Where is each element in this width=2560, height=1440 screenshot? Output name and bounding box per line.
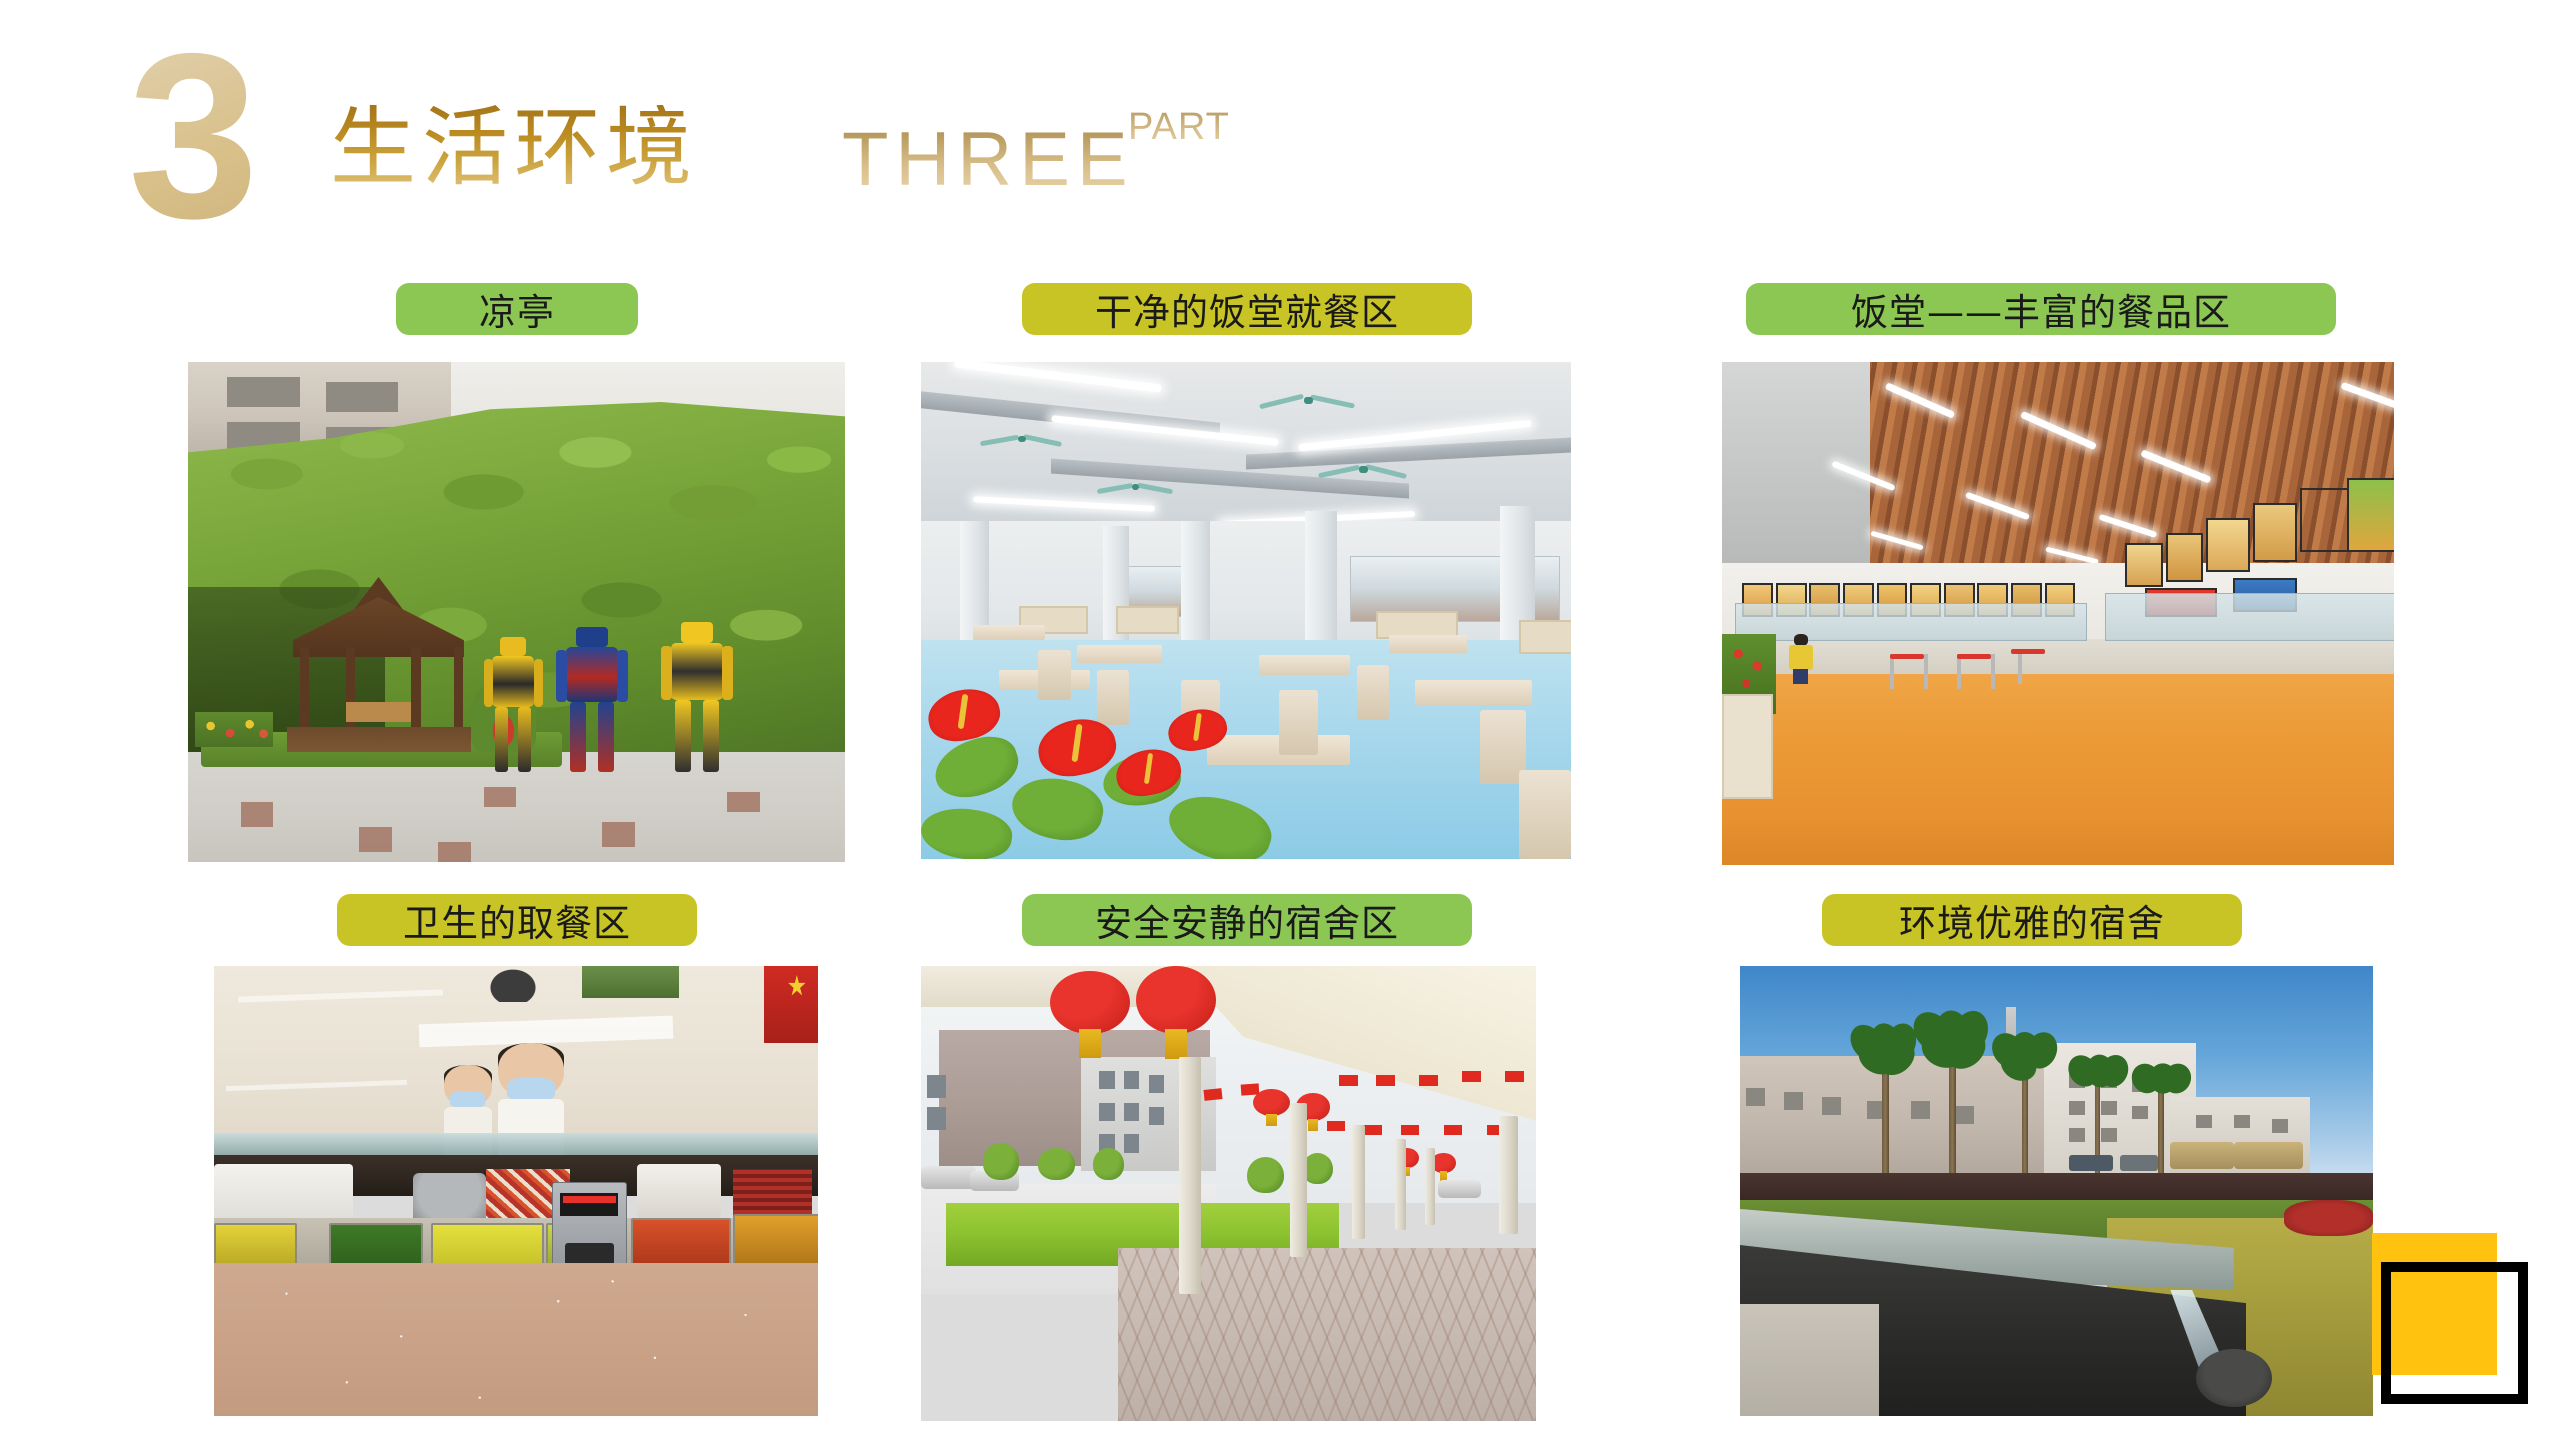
photo-gazebo[interactable] bbox=[188, 362, 845, 862]
caption-gazebo: 凉亭 bbox=[396, 283, 638, 335]
section-number: 3 bbox=[128, 18, 255, 253]
photo-clean-dining-area[interactable] bbox=[921, 362, 1571, 859]
palm-tree bbox=[1993, 1029, 2056, 1173]
slide-header: 3 生活环境 THREE PART bbox=[0, 0, 2560, 300]
red-lantern bbox=[1136, 966, 1216, 1034]
photo-hygienic-serving-area[interactable] bbox=[214, 966, 818, 1416]
ceiling-fan bbox=[980, 427, 1065, 449]
caption-elegant-dormitory: 环境优雅的宿舍 bbox=[1822, 894, 2242, 946]
red-lantern bbox=[1431, 1153, 1456, 1173]
part-label: PART bbox=[1128, 108, 1230, 146]
anthurium-flower bbox=[1038, 720, 1116, 775]
robot-statue-blue-center bbox=[556, 627, 628, 772]
caption-clean-dining-area: 干净的饭堂就餐区 bbox=[1022, 283, 1472, 335]
anthurium-flower bbox=[1168, 710, 1227, 750]
palm-tree bbox=[1917, 1007, 1987, 1174]
ceiling-fan bbox=[1318, 456, 1409, 481]
ceiling-fan bbox=[1097, 476, 1175, 496]
anthurium-flower bbox=[928, 690, 1000, 740]
food-tray bbox=[733, 1214, 818, 1268]
page-title: 生活环境 bbox=[330, 105, 698, 191]
decor-outline-square bbox=[2381, 1262, 2528, 1404]
palm-tree bbox=[1854, 1020, 1917, 1173]
canteen-staff bbox=[1789, 634, 1813, 684]
anthurium-flower bbox=[1116, 750, 1181, 795]
page-title-english: THREE bbox=[842, 122, 1135, 198]
red-lantern bbox=[1050, 971, 1130, 1035]
photo-elegant-dormitory[interactable] bbox=[1740, 966, 2373, 1416]
caption-rich-food-area: 饭堂——丰富的餐品区 bbox=[1746, 283, 2336, 335]
robot-statue-yellow-right bbox=[661, 622, 733, 772]
photo-rich-food-area[interactable] bbox=[1722, 362, 2394, 865]
ceiling-fan bbox=[1259, 387, 1357, 412]
robot-statue-yellow-left bbox=[484, 637, 543, 772]
photo-safe-quiet-dorm-area[interactable] bbox=[921, 966, 1536, 1421]
caption-safe-quiet-dorm-area: 安全安静的宿舍区 bbox=[1022, 894, 1472, 946]
caption-hygienic-serving-area: 卫生的取餐区 bbox=[337, 894, 697, 946]
